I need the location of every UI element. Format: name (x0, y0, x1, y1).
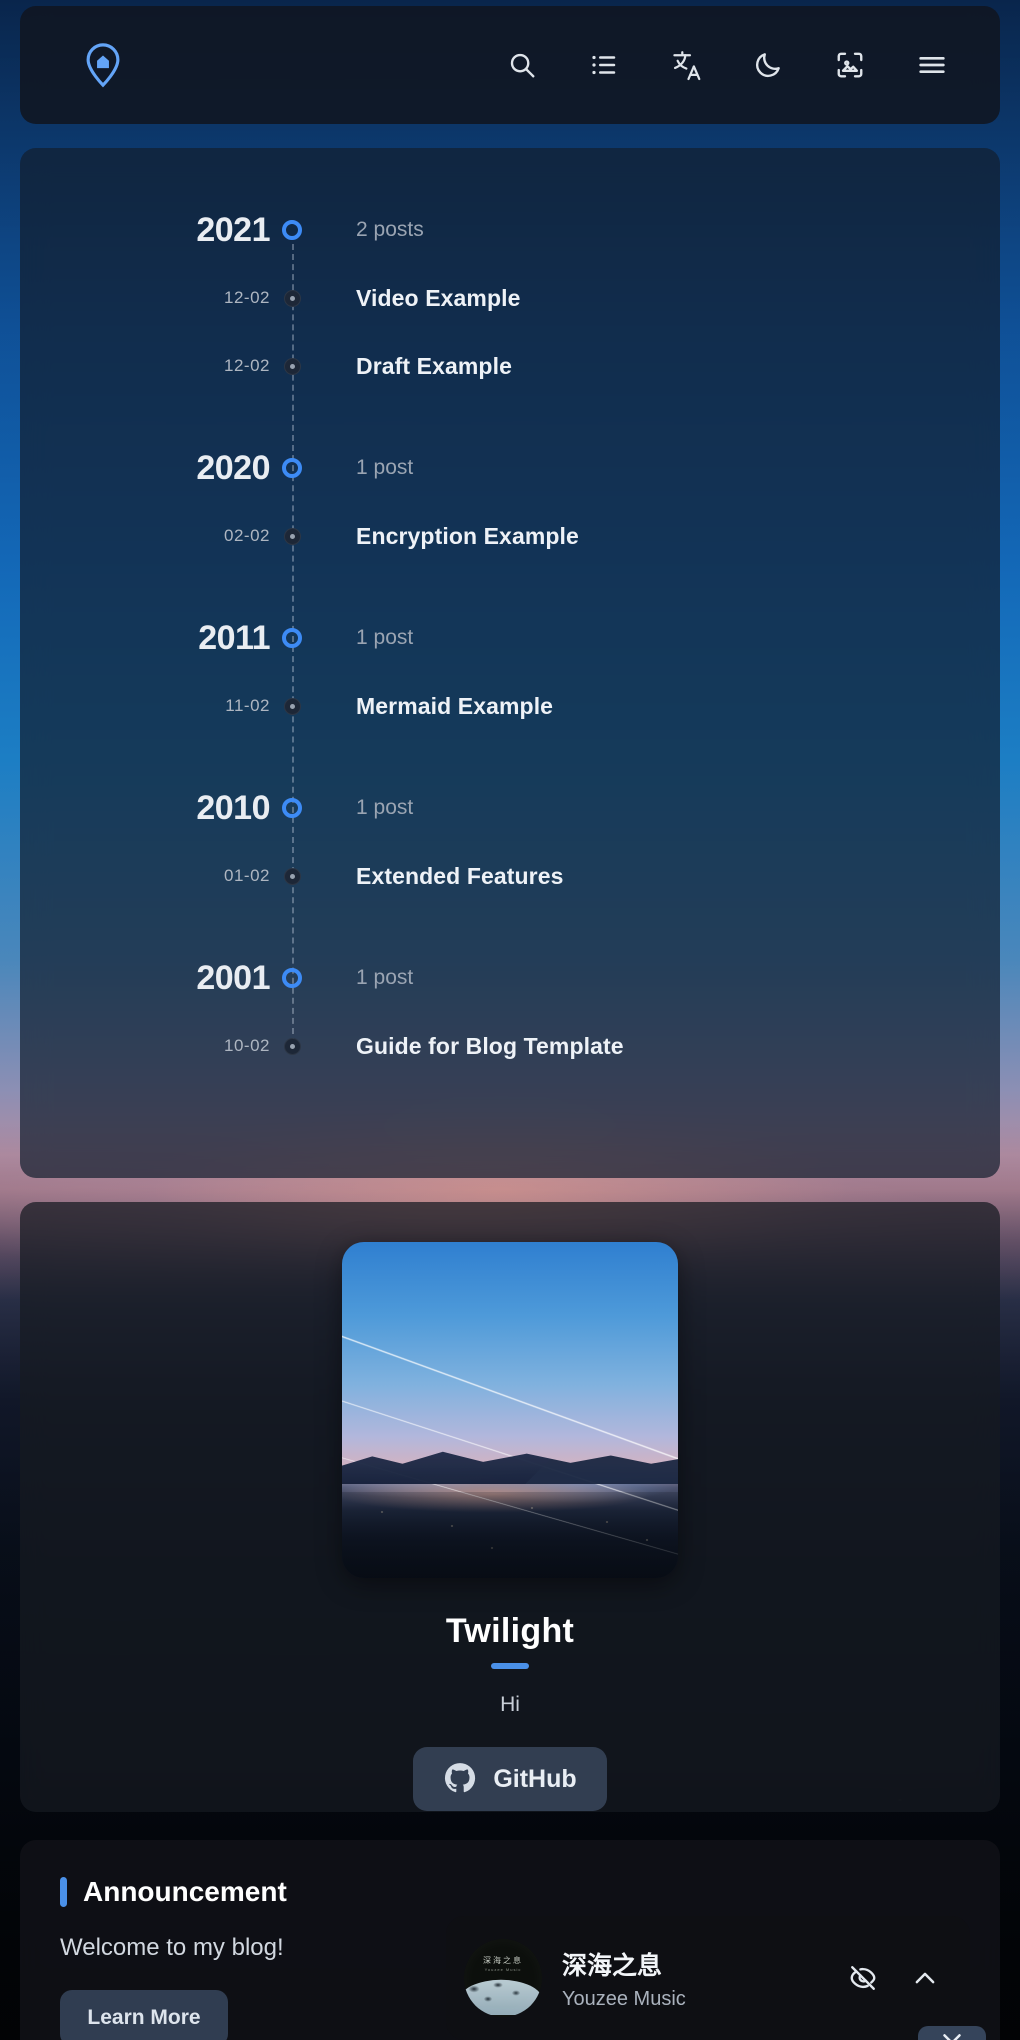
timeline-marker-col (270, 1038, 314, 1055)
profile-card: Twilight Hi GitHub (20, 1202, 1000, 1812)
timeline-post-row[interactable]: 01-02Extended Features (20, 842, 1000, 910)
timeline-date-col: 12-02 (20, 356, 270, 376)
timeline-post-row[interactable]: 12-02Video Example (20, 264, 1000, 332)
music-player: 深海之息 Youzee Music 深海之息 Youzee Music (446, 1916, 970, 2040)
timeline-post-title[interactable]: Video Example (356, 285, 521, 311)
timeline-post-dot (284, 1038, 301, 1055)
timeline-year-label: 2020 (196, 449, 270, 487)
timeline-year-col: 2021 (20, 211, 270, 250)
timeline-post-title[interactable]: Guide for Blog Template (356, 1033, 624, 1059)
album-art-subtitle: Youzee Music (464, 1967, 542, 1972)
timeline-year-col: 2011 (20, 619, 270, 658)
timeline-post-date: 01-02 (224, 866, 270, 885)
github-link-button[interactable]: GitHub (413, 1747, 606, 1811)
timeline-post-date: 12-02 (224, 356, 270, 375)
github-icon (443, 1761, 477, 1798)
timeline-title-col: Mermaid Example (314, 693, 553, 720)
translate-icon[interactable] (664, 43, 708, 87)
announcement-accent-bar (60, 1877, 67, 1907)
moon-icon[interactable] (746, 43, 790, 87)
track-meta: 深海之息 Youzee Music (562, 1946, 822, 2011)
timeline-post-title[interactable]: Mermaid Example (356, 693, 553, 719)
timeline-marker-col (270, 528, 314, 545)
image-switch-icon[interactable] (828, 43, 872, 87)
timeline-marker-col (270, 358, 314, 375)
timeline-marker-col (270, 290, 314, 307)
track-title: 深海之息 (562, 1946, 822, 1982)
timeline-marker-col (270, 458, 314, 478)
album-art-foam (464, 1975, 542, 2015)
timeline-year-dot (282, 798, 302, 818)
timeline-year-row: 20101 post (20, 774, 1000, 842)
album-art-title: 深海之息 (464, 1955, 542, 1966)
timeline-marker-col (270, 628, 314, 648)
timeline-post-date: 12-02 (224, 288, 270, 307)
timeline-post-dot (284, 290, 301, 307)
timeline-year-col: 2001 (20, 959, 270, 998)
timeline-post-count: 2 posts (356, 218, 424, 241)
timeline-post-title[interactable]: Draft Example (356, 353, 512, 379)
timeline-count-col: 2 posts (314, 218, 424, 242)
profile-bio: Hi (500, 1693, 520, 1717)
timeline-year-row: 20212 posts (20, 196, 1000, 264)
timeline-post-date: 11-02 (225, 696, 270, 715)
timeline-marker-col (270, 868, 314, 885)
timeline-count-col: 1 post (314, 456, 413, 480)
timeline-title-col: Extended Features (314, 863, 564, 890)
timeline-year-col: 2010 (20, 789, 270, 828)
learn-more-button[interactable]: Learn More (60, 1990, 228, 2040)
avatar-mountains (342, 1438, 678, 1484)
timeline-post-count: 1 post (356, 456, 413, 479)
timeline-year-label: 2010 (196, 789, 270, 827)
timeline-title-col: Guide for Blog Template (314, 1033, 624, 1060)
eye-off-icon[interactable] (842, 1957, 884, 1999)
track-artist: Youzee Music (562, 1988, 822, 2011)
timeline-list: 20212 posts12-02Video Example12-02Draft … (20, 148, 1000, 1080)
album-art[interactable]: 深海之息 Youzee Music (464, 1939, 542, 2017)
timeline-count-col: 1 post (314, 626, 413, 650)
list-icon[interactable] (582, 43, 626, 87)
hamburger-menu-icon[interactable] (910, 43, 954, 87)
timeline-date-col: 12-02 (20, 288, 270, 308)
timeline-year-dot (282, 628, 302, 648)
timeline-post-row[interactable]: 12-02Draft Example (20, 332, 1000, 400)
timeline-post-count: 1 post (356, 796, 413, 819)
timeline-year-label: 2011 (198, 619, 270, 657)
timeline-marker-col (270, 698, 314, 715)
timeline-year-label: 2021 (196, 211, 270, 249)
timeline-post-count: 1 post (356, 966, 413, 989)
timeline-post-count: 1 post (356, 626, 413, 649)
timeline-post-date: 10-02 (224, 1036, 270, 1055)
timeline-count-col: 1 post (314, 796, 413, 820)
timeline-marker-col (270, 968, 314, 988)
timeline-date-col: 10-02 (20, 1036, 270, 1056)
timeline-post-dot (284, 868, 301, 885)
timeline-post-row[interactable]: 11-02Mermaid Example (20, 672, 1000, 740)
timeline-year-dot (282, 458, 302, 478)
timeline-post-title[interactable]: Extended Features (356, 863, 564, 889)
github-label: GitHub (493, 1765, 576, 1794)
name-underline (491, 1663, 529, 1669)
home-pin-icon[interactable] (82, 42, 124, 88)
timeline-post-dot (284, 698, 301, 715)
timeline-year-label: 2001 (196, 959, 270, 997)
announcement-title: Announcement (83, 1876, 287, 1908)
avatar-city-lights (342, 1492, 678, 1578)
timeline-title-col: Video Example (314, 285, 521, 312)
timeline-date-col: 11-02 (20, 696, 270, 716)
timeline-year-dot (282, 968, 302, 988)
search-icon[interactable] (500, 43, 544, 87)
timeline-post-dot (284, 358, 301, 375)
archive-timeline-card: 20212 posts12-02Video Example12-02Draft … (20, 148, 1000, 1178)
header-nav (500, 43, 954, 87)
timeline-year-col: 2020 (20, 449, 270, 488)
timeline-title-col: Draft Example (314, 353, 512, 380)
timeline-post-title[interactable]: Encryption Example (356, 523, 579, 549)
timeline-date-col: 01-02 (20, 866, 270, 886)
avatar[interactable] (342, 1242, 678, 1578)
announcement-header: Announcement (60, 1876, 960, 1908)
chevron-up-icon[interactable] (904, 1957, 946, 1999)
timeline-year-row: 20011 post (20, 944, 1000, 1012)
timeline-post-row[interactable]: 10-02Guide for Blog Template (20, 1012, 1000, 1080)
timeline-marker-col (270, 220, 314, 240)
profile-name: Twilight (446, 1612, 574, 1651)
timeline-post-dot (284, 528, 301, 545)
timeline-title-col: Encryption Example (314, 523, 579, 550)
site-header (20, 6, 1000, 124)
timeline-year-row: 20111 post (20, 604, 1000, 672)
timeline-year-row: 20201 post (20, 434, 1000, 502)
timeline-post-date: 02-02 (224, 526, 270, 545)
bottom-right-widget[interactable] (918, 2026, 986, 2040)
timeline-year-dot (282, 220, 302, 240)
timeline-count-col: 1 post (314, 966, 413, 990)
timeline-post-row[interactable]: 02-02Encryption Example (20, 502, 1000, 570)
timeline-marker-col (270, 798, 314, 818)
timeline-date-col: 02-02 (20, 526, 270, 546)
